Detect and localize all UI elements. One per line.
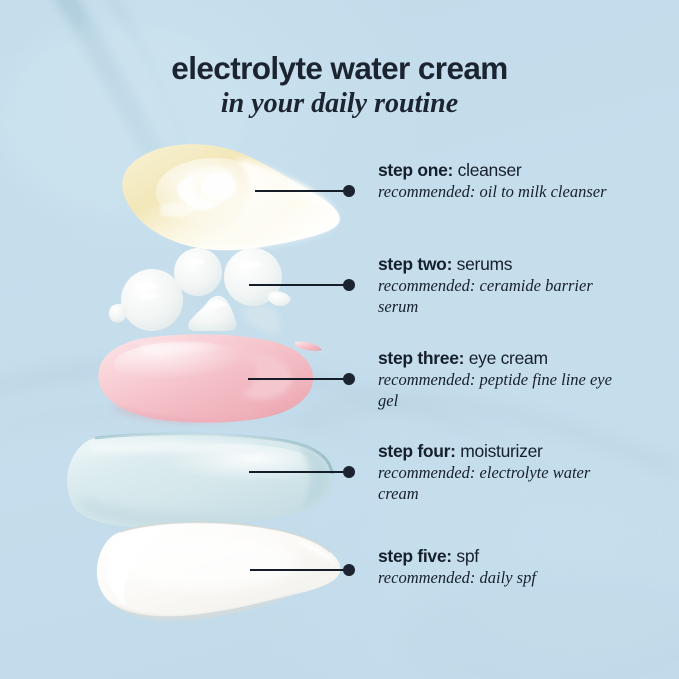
leader-rule [250,569,345,571]
moisturizer-swatch [67,434,332,528]
step-item-one: step one: cleanser recommended: oil to m… [378,160,658,203]
step-two-recommendation: recommended: ceramide barrier serum [378,276,613,318]
step-four-value: moisturizer [456,441,543,461]
step-one-value: cleanser [453,160,521,180]
leader-dot [343,279,355,291]
step-two-heading: step two: serums [378,254,658,274]
step-three-value: eye cream [464,348,548,368]
cleanser-swatch [122,144,340,250]
leader-dot [343,185,355,197]
leader-line-step-four [249,466,355,478]
leader-rule [248,378,345,380]
step-item-two: step two: serums recommended: ceramide b… [378,254,658,318]
step-five-heading: step five: spf [378,546,658,566]
step-three-heading: step three: eye cream [378,348,658,368]
leader-dot [343,373,355,385]
leader-rule [255,190,345,192]
step-four-label: step four: [378,441,456,461]
leader-line-step-three [248,373,355,385]
leader-line-step-two [249,279,355,291]
step-five-value: spf [452,546,479,566]
step-three-label: step three: [378,348,464,368]
step-five-recommendation: recommended: daily spf [378,568,613,589]
step-two-value: serums [452,254,512,274]
title-main: electrolyte water cream [0,52,679,85]
leader-line-step-one [255,185,355,197]
infographic-poster: electrolyte water cream in your daily ro… [0,0,679,679]
leader-rule [249,284,345,286]
step-item-three: step three: eye cream recommended: pepti… [378,348,658,412]
step-one-heading: step one: cleanser [378,160,658,180]
leader-rule [249,471,345,473]
step-four-heading: step four: moisturizer [378,441,658,461]
leader-line-step-five [250,564,355,576]
step-two-label: step two: [378,254,452,274]
step-three-recommendation: recommended: peptide fine line eye gel [378,370,613,412]
page-title: electrolyte water cream in your daily ro… [0,52,679,120]
leader-dot [343,564,355,576]
step-five-label: step five: [378,546,452,566]
step-one-label: step one: [378,160,453,180]
title-subtitle: in your daily routine [0,88,679,119]
step-item-four: step four: moisturizer recommended: elec… [378,441,658,505]
step-item-five: step five: spf recommended: daily spf [378,546,658,589]
step-four-recommendation: recommended: electrolyte water cream [378,463,613,505]
leader-dot [343,466,355,478]
step-one-recommendation: recommended: oil to milk cleanser [378,182,613,203]
